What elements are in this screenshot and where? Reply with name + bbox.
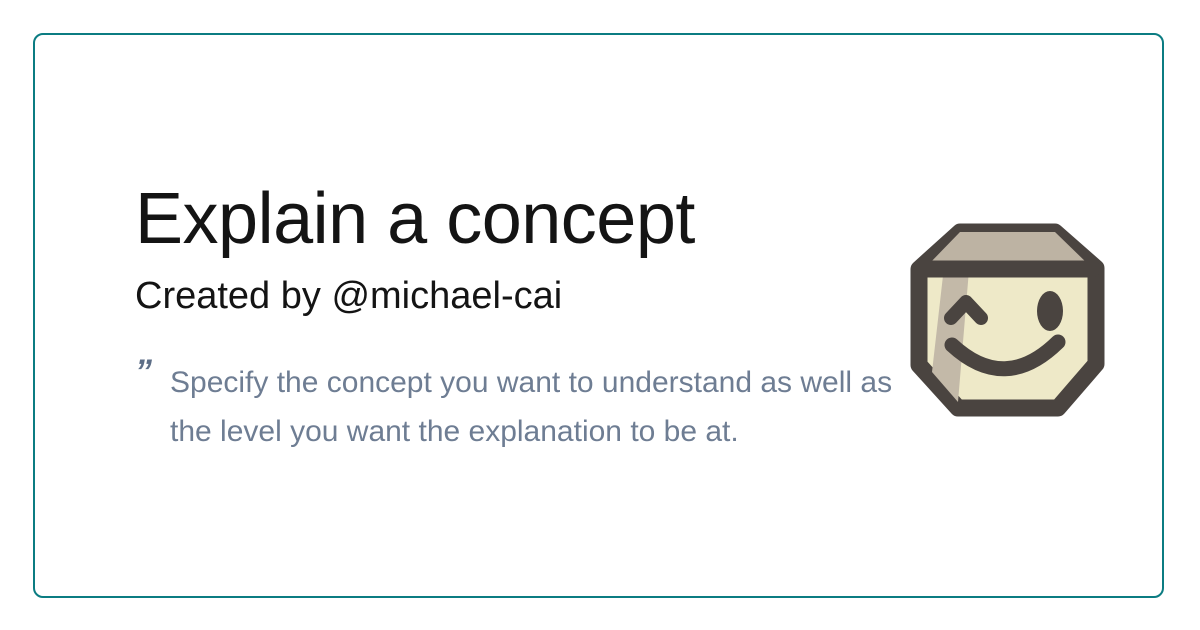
- robot-face-avatar-icon: [900, 212, 1115, 427]
- description-text: Specify the concept you want to understa…: [170, 359, 905, 456]
- page-title: Explain a concept: [135, 183, 905, 255]
- avatar-right-eye-icon: [1037, 291, 1063, 331]
- quote-mark-icon: ”: [135, 355, 152, 389]
- og-preview-card: Explain a concept Created by @michael-ca…: [33, 33, 1164, 598]
- description-quote: ” Specify the concept you want to unders…: [135, 315, 905, 456]
- card-content: Explain a concept Created by @michael-ca…: [35, 35, 1162, 596]
- text-column: Explain a concept Created by @michael-ca…: [135, 183, 905, 456]
- author-byline: Created by @michael-cai: [135, 255, 905, 315]
- avatar: [900, 212, 1115, 427]
